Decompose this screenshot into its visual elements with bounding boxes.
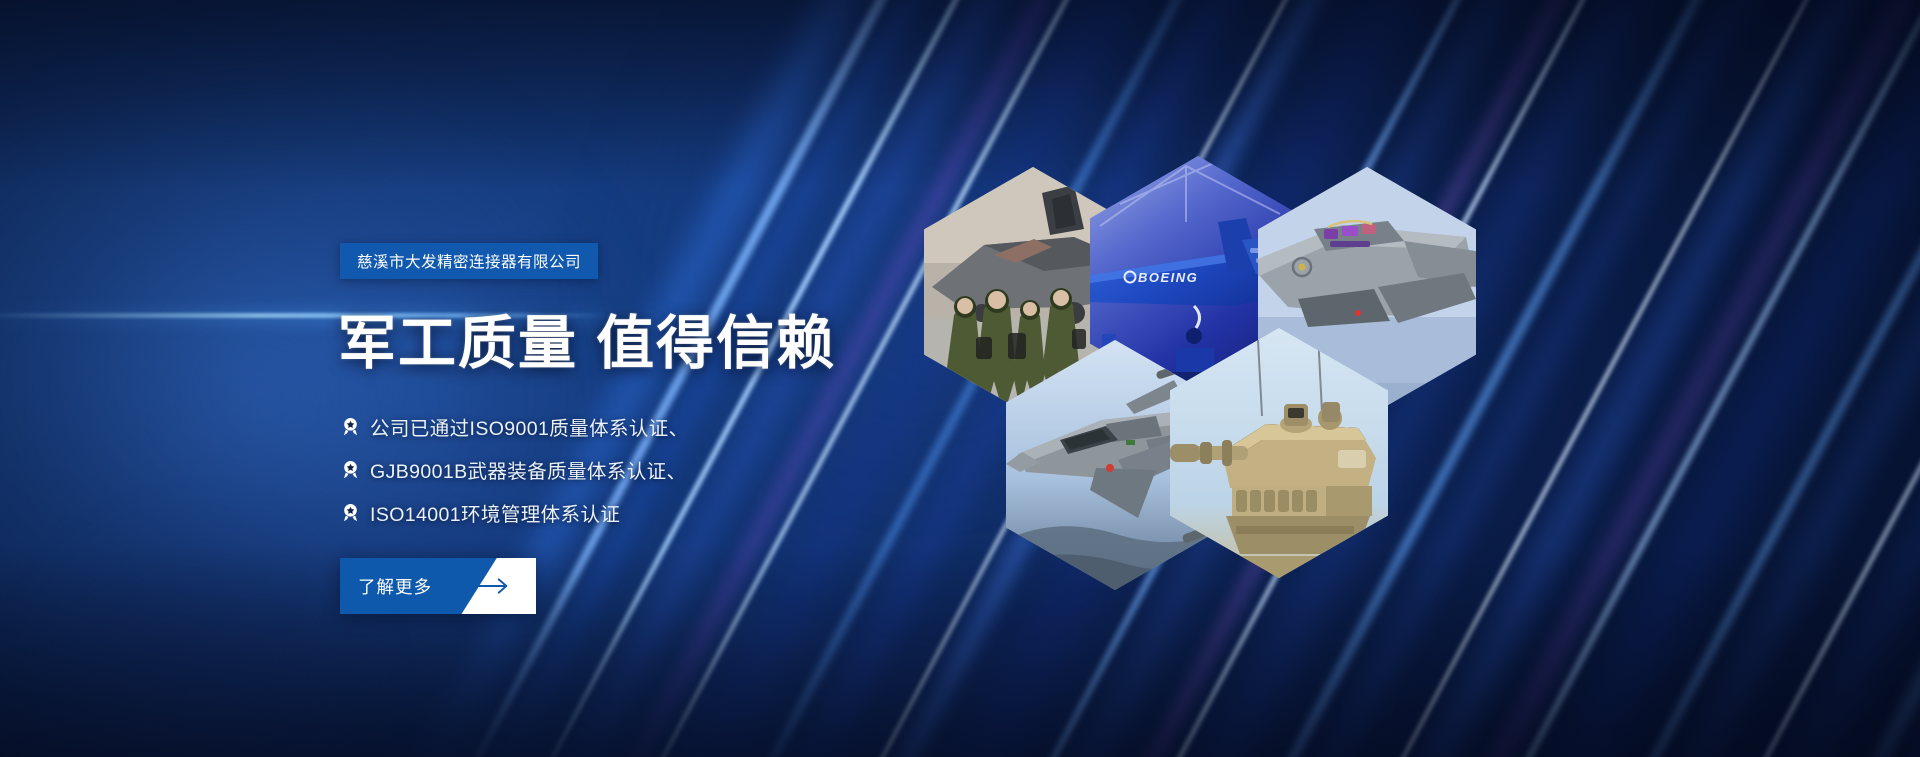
medal-icon — [340, 416, 361, 437]
certification-list: 公司已通过ISO9001质量体系认证、 GJB9001B武器装备质量体系认证、 … — [340, 405, 689, 534]
hexagon-gallery: BOEING — [900, 150, 1520, 620]
list-item-label: ISO14001环境管理体系认证 — [370, 498, 620, 527]
list-item: GJB9001B武器装备质量体系认证、 — [340, 448, 689, 491]
svg-text:BOEING: BOEING — [1138, 270, 1198, 285]
list-item: ISO14001环境管理体系认证 — [340, 491, 689, 534]
list-item: 公司已通过ISO9001质量体系认证、 — [340, 405, 689, 448]
hero-banner: BOEING — [0, 0, 1920, 757]
medal-icon — [340, 502, 361, 523]
arrow-right-icon — [466, 558, 522, 614]
cta-label: 了解更多 — [358, 558, 432, 614]
list-item-label: GJB9001B武器装备质量体系认证、 — [370, 455, 686, 484]
learn-more-button[interactable]: 了解更多 — [340, 558, 536, 614]
company-name-badge: 慈溪市大发精密连接器有限公司 — [340, 243, 598, 279]
list-item-label: 公司已通过ISO9001质量体系认证、 — [370, 412, 689, 441]
medal-icon — [340, 459, 361, 480]
company-name-label: 慈溪市大发精密连接器有限公司 — [357, 250, 581, 272]
page-title: 军工质量 值得信赖 — [338, 296, 836, 380]
